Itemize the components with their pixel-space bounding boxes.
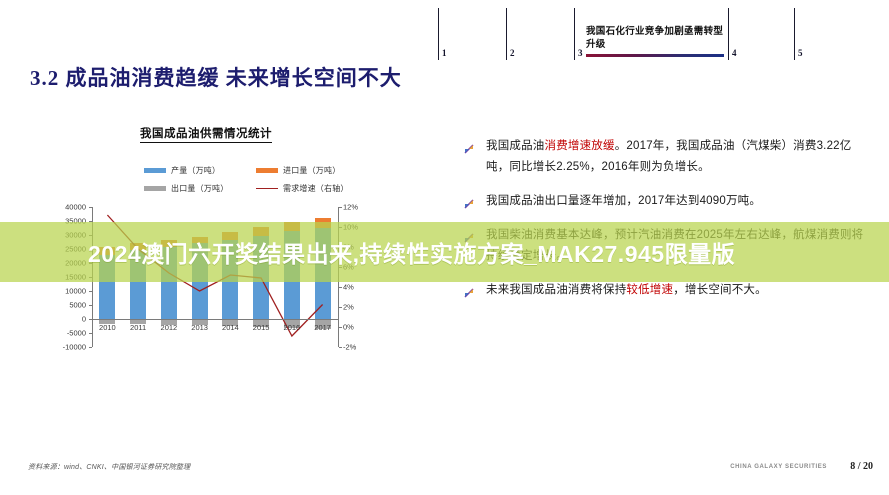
zero-baseline [92, 319, 339, 320]
legend-label: 进口量（万吨） [283, 165, 340, 176]
page-number: 8 / 20 [850, 461, 873, 472]
y-axis-right-tick: 2% [343, 303, 354, 312]
tick-mark [89, 333, 92, 334]
bullet-highlight-text: 较低增速 [626, 284, 673, 296]
page-title: 3.2 成品油消费趋缓 未来增长空间不大 [30, 62, 402, 92]
nav-item-number: 2 [510, 48, 515, 58]
legend-item: 需求增速（右轴） [256, 183, 368, 194]
y-axis-left-tick: 5000 [36, 301, 86, 310]
slide-canvas: 123我国石化行业竞争加剧亟需转型升级45 3.2 成品油消费趋缓 未来增长空间… [0, 0, 889, 495]
bullet-text: ，增长空间不大。 [673, 284, 767, 296]
nav-item-number: 5 [798, 48, 803, 58]
brand-mark: CHINA GALAXY SECURITIES [730, 464, 827, 470]
x-axis-tick-label: 2016 [284, 323, 301, 332]
dart-bullet-icon [464, 285, 474, 295]
bullet-text: 未来我国成品油消费将保持 [486, 284, 626, 296]
bullet-text: 我国成品油出口量逐年增加，2017年达到4090万吨。 [486, 195, 761, 207]
dart-bullet-icon [464, 196, 474, 206]
nav-item-number: 4 [732, 48, 737, 58]
nav-active-underline [586, 54, 724, 57]
tick-mark [89, 291, 92, 292]
bullet-item: 我国成品油出口量逐年增加，2017年达到4090万吨。 [460, 191, 872, 212]
tick-mark [339, 327, 342, 328]
legend-swatch [144, 168, 166, 173]
y-axis-left-tick: -5000 [36, 329, 86, 338]
nav-divider [438, 8, 439, 60]
y-axis-right-tick: -2% [343, 343, 356, 352]
legend-swatch [256, 168, 278, 173]
tick-mark [339, 307, 342, 308]
bullet-text: 我国成品油 [486, 140, 545, 152]
source-note: 资料来源：wind、CNKI、中国银河证券研究院整理 [28, 462, 190, 472]
tick-mark [339, 207, 342, 208]
header-nav: 123我国石化行业竞争加剧亟需转型升级45 [438, 8, 858, 60]
legend-item: 进口量（万吨） [256, 165, 368, 176]
chart-title: 我国成品油供需情况统计 [140, 125, 272, 143]
tick-mark [339, 287, 342, 288]
x-axis-tick-label: 2015 [253, 323, 270, 332]
bullet-highlight-text: 消费增速放缓 [545, 140, 615, 152]
legend-item: 产量（万吨） [144, 165, 256, 176]
y-axis-left-tick: 0 [36, 315, 86, 324]
legend-item: 出口量（万吨） [144, 183, 256, 194]
x-axis-tick-label: 2013 [191, 323, 208, 332]
chart-legend: 产量（万吨）进口量（万吨）出口量（万吨）需求增速（右轴） [144, 165, 369, 201]
watermark-text: 2024澳门六开奖结果出来,持续性实施方案_MAK27.945限量版 [0, 222, 889, 282]
bullet-item: 我国成品油消费增速放缓。2017年，我国成品油（汽煤柴）消费3.22亿吨，同比增… [460, 136, 872, 178]
bullet-item: 未来我国成品油消费将保持较低增速，增长空间不大。 [460, 280, 872, 301]
legend-swatch [144, 186, 166, 191]
x-axis-tick-label: 2014 [222, 323, 239, 332]
tick-mark [339, 347, 342, 348]
legend-label: 出口量（万吨） [171, 183, 228, 194]
legend-label: 需求增速（右轴） [283, 183, 349, 194]
nav-divider [794, 8, 795, 60]
x-axis-tick-label: 2010 [99, 323, 116, 332]
x-axis-tick-label: 2012 [161, 323, 178, 332]
nav-item-number: 1 [442, 48, 447, 58]
nav-divider [728, 8, 729, 60]
y-axis-right-tick: 12% [343, 203, 358, 212]
x-axis-tick-label: 2017 [314, 323, 331, 332]
x-axis-tick-label: 2011 [130, 323, 146, 332]
dart-bullet-icon [464, 141, 474, 151]
y-axis-right-tick: 4% [343, 283, 354, 292]
nav-item-number: 3 [578, 48, 583, 58]
tick-mark [89, 207, 92, 208]
y-axis-right-tick: 0% [343, 323, 354, 332]
nav-item-label: 我国石化行业竞争加剧亟需转型升级 [586, 25, 726, 51]
y-axis-left-tick: 40000 [36, 203, 86, 212]
tick-mark [89, 305, 92, 306]
legend-label: 产量（万吨） [171, 165, 220, 176]
nav-divider [574, 8, 575, 60]
nav-divider [506, 8, 507, 60]
y-axis-left-tick: 10000 [36, 287, 86, 296]
tick-mark [89, 347, 92, 348]
legend-swatch [256, 188, 278, 190]
y-axis-left-tick: -10000 [36, 343, 86, 352]
